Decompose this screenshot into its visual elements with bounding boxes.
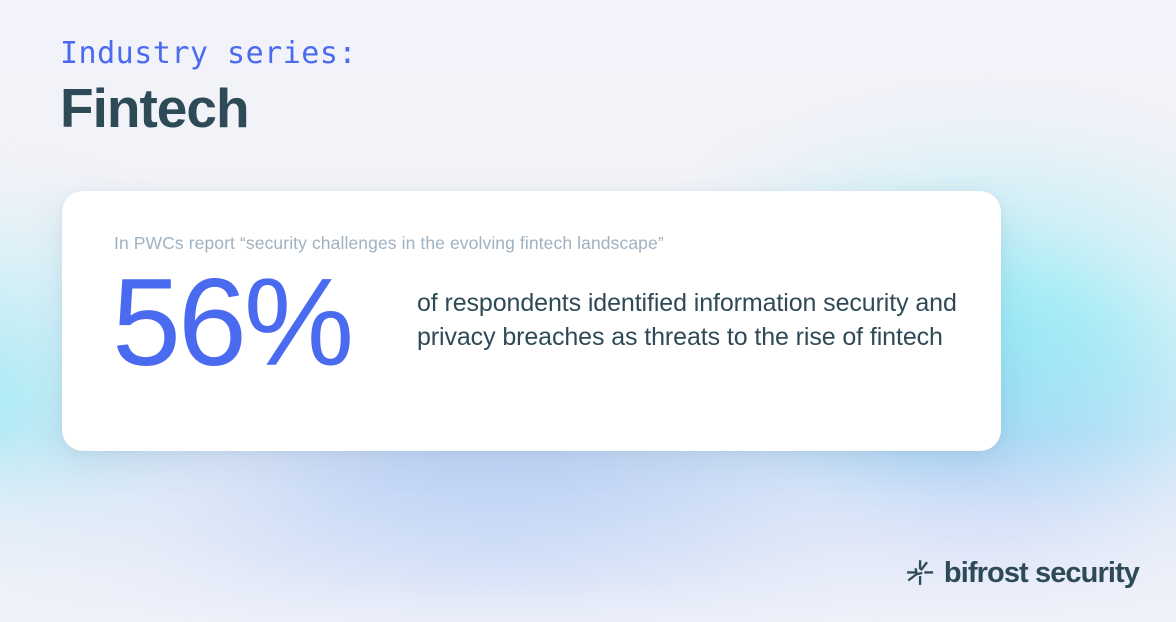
stat-percentage: 56%	[112, 263, 417, 385]
stat-row: 56% of respondents identified informatio…	[112, 269, 961, 385]
slide-root: Industry series: Fintech In PWCs report …	[0, 0, 1176, 622]
header-block: Industry series: Fintech	[60, 38, 357, 139]
brand-name: bifrost security	[944, 559, 1139, 588]
eyebrow-label: Industry series:	[60, 38, 357, 70]
stat-card: In PWCs report “security challenges in t…	[62, 191, 1001, 451]
page-title: Fintech	[60, 78, 357, 140]
stat-description: of respondents identified information se…	[417, 269, 961, 355]
converging-arrows-icon	[905, 558, 935, 588]
card-caption: In PWCs report “security challenges in t…	[114, 233, 664, 254]
brand-lockup: bifrost security	[905, 558, 1139, 588]
